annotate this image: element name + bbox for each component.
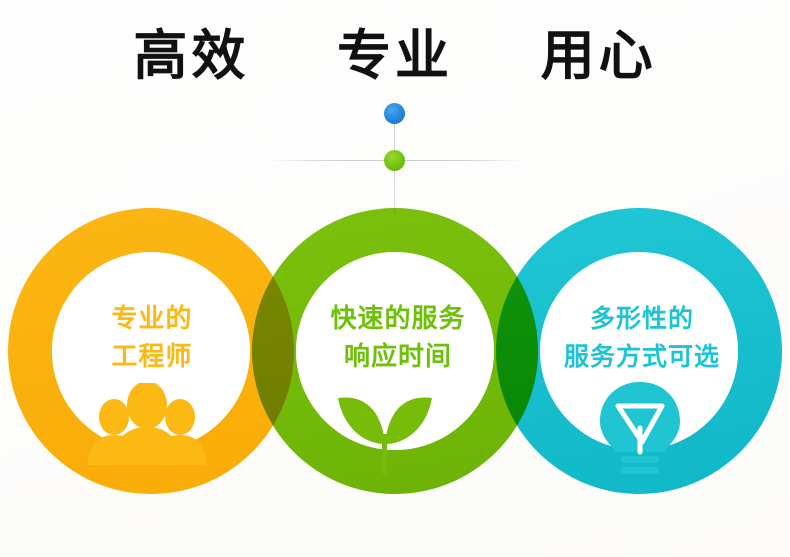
- ring-green-interior: [296, 252, 494, 450]
- ring-orange-interior: [52, 252, 250, 450]
- infographic-canvas: 高效 专业 用心: [0, 0, 790, 557]
- venn-rings-group: [0, 0, 790, 557]
- ring-cyan-interior: [540, 252, 738, 450]
